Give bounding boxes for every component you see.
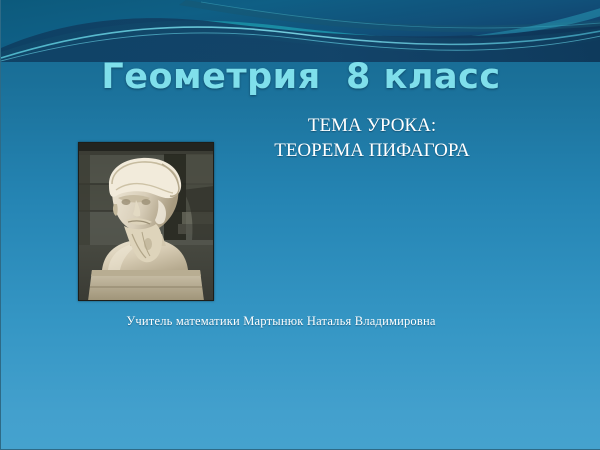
- decorative-wave-band: [1, 0, 600, 62]
- teacher-credit: Учитель математики Мартынюк Наталья Влад…: [1, 314, 561, 329]
- bust-photo-graphic: [78, 142, 214, 301]
- presentation-slide: Геометрия 8 класс ТЕМА УРОКА: ТЕОРЕМА ПИ…: [0, 0, 600, 450]
- lesson-topic-label: ТЕМА УРОКА:: [227, 113, 517, 138]
- lesson-topic-value: ТЕОРЕМА ПИФАГОРА: [227, 138, 517, 163]
- slide-title: Геометрия 8 класс: [1, 57, 600, 97]
- wave-graphic: [1, 0, 600, 62]
- pythagoras-bust-image: [78, 142, 214, 301]
- lesson-topic-block: ТЕМА УРОКА: ТЕОРЕМА ПИФАГОРА: [227, 113, 517, 163]
